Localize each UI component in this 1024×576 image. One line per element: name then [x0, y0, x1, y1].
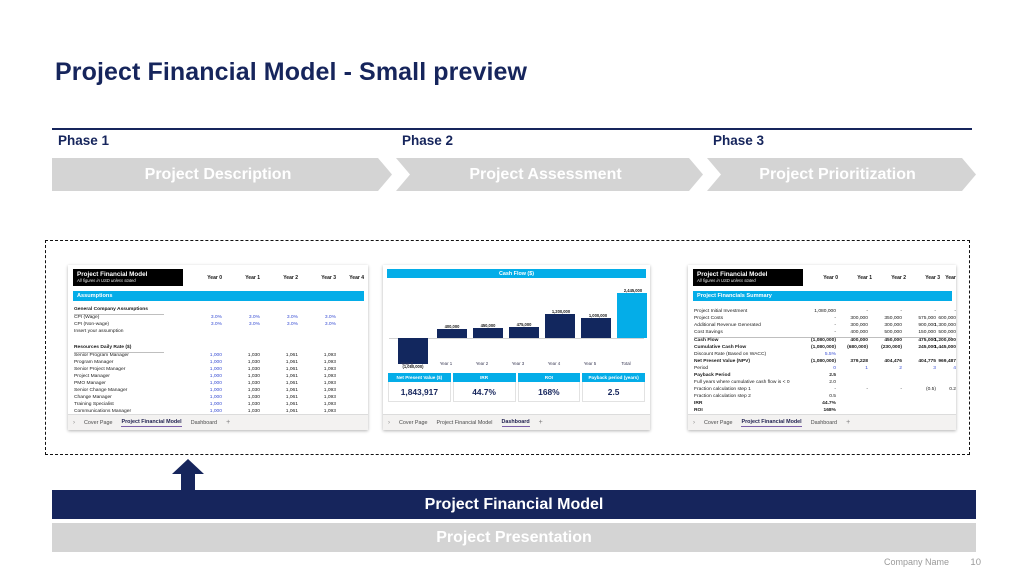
bar-5 [581, 318, 611, 338]
kpi-npv-value: 1,843,917 [388, 382, 451, 402]
cell-r2-y3: 1,061 [266, 367, 298, 373]
sheet-header-title: Project Financial Model [697, 271, 799, 278]
x-label-1: Year 1 [431, 361, 461, 366]
year-header-2: Year 2 [874, 275, 906, 281]
phase-chevron-label-3: Project Prioritization [759, 166, 915, 184]
bar-3 [509, 327, 539, 338]
row-label-r7: Training Specialist [74, 402, 114, 408]
cell-r1-y4: 1,093 [304, 360, 336, 366]
row-label-r6: Change Manager [74, 395, 112, 401]
cell-r4-y1: 1,000 [190, 381, 222, 387]
cell-fraction1-y2: - [870, 387, 902, 393]
cell-r5-y1: 1,000 [190, 388, 222, 394]
panel-dashboard[interactable]: Cash Flow ($) (1,080,000) 400,000 450,00… [383, 265, 650, 430]
row-label-cpi-nonwage: CPI (Non-wage) [74, 322, 109, 328]
sheet-tab-project-financial-model[interactable]: Project Financial Model [741, 419, 801, 427]
cell-r3-y1: 1,000 [190, 374, 222, 380]
sheet-header-subtitle: All figures in USD unless stated [697, 278, 799, 284]
kpi-irr-value: 44.7% [453, 382, 516, 402]
cell-cum-y2: (230,000) [868, 345, 902, 351]
cell-r3-y3: 1,061 [266, 374, 298, 380]
cell-cpi-wage-y2: 3.0% [228, 315, 260, 321]
cell-s3-y1: 400,000 [836, 330, 868, 336]
year-header-0: Year 0 [806, 275, 838, 281]
kpi-roi-value: 168% [518, 382, 581, 402]
sheet-header-title: Project Financial Model [77, 271, 179, 278]
row-label-r4: PMO Manager [74, 381, 106, 387]
phase-label-2: Phase 2 [396, 134, 703, 148]
cell-s0-y2: - [870, 309, 902, 315]
cell-r5-y2: 1,030 [228, 388, 260, 394]
cell-r0-y4: 1,093 [304, 353, 336, 359]
cell-r0-y3: 1,061 [266, 353, 298, 359]
sheet-tab-project-financial-model[interactable]: Project Financial Model [436, 420, 492, 426]
phase-column-2: Phase 2 Project Assessment [396, 134, 703, 194]
cell-s2-y2: 300,000 [870, 323, 902, 329]
bar-4 [545, 314, 575, 338]
row-label-fraction-1: Fraction calculation step 1 [694, 387, 751, 393]
row-label-discount-rate: Discount Rate (Based on WACC) [694, 352, 766, 358]
year-header-2: Year 2 [264, 275, 298, 281]
phase-label-3: Phase 3 [707, 134, 976, 148]
cell-r7-y4: 1,093 [304, 402, 336, 408]
bar-1 [437, 329, 467, 338]
cell-period-y2: 2 [870, 366, 902, 372]
cell-discount-rate: 5.5% [800, 352, 836, 358]
phase-band: Phase 1 Project Description Phase 2 Proj… [52, 134, 976, 194]
cell-cash-flow-y2: 450,000 [870, 338, 902, 344]
bar-project-financial-model[interactable]: Project Financial Model [52, 490, 976, 519]
section-bar-assumptions: Assumptions [73, 291, 364, 301]
slide-canvas: Project Financial Model - Small preview … [0, 0, 1024, 576]
cell-r3-y2: 1,030 [228, 374, 260, 380]
cell-cum-y4: 1,445,000 [922, 345, 956, 351]
cell-cash-flow-y0: (1,080,000) [796, 338, 836, 344]
cell-r7-y1: 1,000 [190, 402, 222, 408]
cell-fraction1-y1: - [836, 387, 868, 393]
panel-summary[interactable]: Project Financial Model All figures in U… [688, 265, 956, 430]
chart-title: Cash Flow ($) [387, 269, 646, 278]
row-label-cum-cash-flow: Cumulative Cash Flow [694, 345, 746, 351]
sheet-header-block: Project Financial Model All figures in U… [693, 269, 803, 286]
tabstrip-next-icon[interactable]: › [388, 420, 390, 426]
row-label-full-years: Full years where cumulative cash flow is… [694, 380, 790, 386]
x-label-5: Year 5 [575, 361, 605, 366]
row-label-r1: Program Manager [74, 360, 113, 366]
row-label-s0: Project Initial Investment [694, 309, 747, 315]
sheet-header-block: Project Financial Model All figures in U… [73, 269, 183, 286]
sheet-tab-project-financial-model[interactable]: Project Financial Model [121, 419, 181, 427]
sheet-header-subtitle: All figures in USD unless stated [77, 278, 179, 284]
cell-r0-y1: 1,000 [190, 353, 222, 359]
cash-flow-chart: (1,080,000) 400,000 450,000 475,000 1,20… [389, 280, 644, 358]
row-label-r3: Project Manager [74, 374, 110, 380]
cell-cpi-nonwage-y2: 3.0% [228, 322, 260, 328]
row-label-period: Period [694, 366, 708, 372]
year-header-1: Year 1 [840, 275, 872, 281]
footer-company-name: Company Name [884, 557, 949, 567]
group-title-general: General Company Assumptions [74, 307, 148, 313]
cell-period-y0: 0 [800, 366, 836, 372]
row-label-r2: Senior Project Manager [74, 367, 125, 373]
row-label-r5: Senior Change Manager [74, 388, 127, 394]
cell-r3-y4: 1,093 [304, 374, 336, 380]
bar-project-financial-model-label: Project Financial Model [425, 496, 604, 514]
kpi-row: Net Present Value ($) 1,843,917 IRR 44.7… [388, 373, 645, 402]
cell-s2-y1: 300,000 [836, 323, 868, 329]
x-label-3: Year 3 [503, 361, 533, 366]
sheet-tab-cover-page[interactable]: Cover Page [84, 420, 112, 426]
cell-r7-y2: 1,030 [228, 402, 260, 408]
cell-r4-y3: 1,061 [266, 381, 298, 387]
kpi-npv: Net Present Value ($) 1,843,917 [388, 373, 451, 402]
phase-chevron-3[interactable]: Project Prioritization [707, 158, 976, 191]
cell-period-y1: 1 [836, 366, 868, 372]
cell-r4-y2: 1,030 [228, 381, 260, 387]
cell-s1-y0: - [800, 316, 836, 322]
page-title: Project Financial Model - Small preview [55, 58, 527, 87]
cell-r7-y3: 1,061 [266, 402, 298, 408]
section-bar-summary: Project Financials Summary [693, 291, 952, 301]
kpi-roi: ROI 168% [518, 373, 581, 402]
cell-s3-y2: 500,000 [870, 330, 902, 336]
panel-assumptions[interactable]: Project Financial Model All figures in U… [68, 265, 368, 430]
add-sheet-icon[interactable]: + [226, 419, 230, 426]
kpi-irr: IRR 44.7% [453, 373, 516, 402]
bar-project-presentation[interactable]: Project Presentation [52, 523, 976, 552]
sheet-tab-cover-page[interactable]: Cover Page [704, 420, 732, 426]
cell-r2-y2: 1,030 [228, 367, 260, 373]
kpi-payback-value: 2.5 [582, 382, 645, 402]
kpi-npv-header: Net Present Value ($) [388, 373, 451, 382]
up-arrow-icon [170, 458, 206, 492]
kpi-payback-header: Payback period (years) [582, 373, 645, 382]
cell-r2-y4: 1,093 [304, 367, 336, 373]
sheet-tab-dashboard[interactable]: Dashboard [502, 419, 530, 427]
x-label-4: Year 4 [539, 361, 569, 366]
cell-s0-y4: - [924, 309, 956, 315]
cell-s1-y4: 600,000 [924, 316, 956, 322]
year-header-4: Year 4 [928, 275, 956, 281]
cell-s0-y0: 1,080,000 [800, 309, 836, 315]
sheet-tab-cover-page[interactable]: Cover Page [399, 420, 427, 426]
cell-r6-y2: 1,030 [228, 395, 260, 401]
cell-cpi-wage-y4: 3.0% [304, 315, 336, 321]
cell-s1-y1: 300,000 [836, 316, 868, 322]
phase-chevron-label-2: Project Assessment [469, 166, 621, 184]
cell-cum-y1: (680,000) [834, 345, 868, 351]
cell-s3-y0: - [800, 330, 836, 336]
cell-r5-y3: 1,061 [266, 388, 298, 394]
year-header-1: Year 1 [226, 275, 260, 281]
x-label-2: Year 2 [467, 361, 497, 366]
bar-project-presentation-label: Project Presentation [436, 529, 592, 547]
cell-r1-y3: 1,061 [266, 360, 298, 366]
kpi-irr-header: IRR [453, 373, 516, 382]
cell-fraction1-y0: - [800, 387, 836, 393]
kpi-roi-header: ROI [518, 373, 581, 382]
phase-column-3: Phase 3 Project Prioritization [707, 134, 976, 194]
add-sheet-icon[interactable]: + [846, 419, 850, 426]
phase-chevron-1[interactable]: Project Description [52, 158, 392, 191]
cell-s3-y4: 500,000 [924, 330, 956, 336]
cell-r1-y1: 1,000 [190, 360, 222, 366]
row-label-s2: Additional Revenue Generated [694, 323, 761, 329]
row-label-insert-assumption: Insert your assumption [74, 329, 123, 335]
cell-npv-y4: 969,487 [924, 359, 956, 365]
cell-r6-y1: 1,000 [190, 395, 222, 401]
cell-fraction2: 0.5 [800, 394, 836, 400]
cell-cum-y0: (1,080,000) [796, 345, 836, 351]
footer-page-number: 10 [970, 557, 981, 568]
row-label-irr: IRR [694, 401, 702, 407]
cell-period-y4: 4 [924, 366, 956, 372]
sheet-tabstrip-1[interactable]: › Cover Page Project Financial Model Das… [68, 414, 368, 430]
phase-column-1: Phase 1 Project Description [52, 134, 392, 194]
row-label-fraction-2: Fraction calculation step 2 [694, 394, 751, 400]
cell-cpi-nonwage-y1: 3.0% [190, 322, 222, 328]
cell-cpi-nonwage-y3: 3.0% [266, 322, 298, 328]
cell-npv-y1: 379,228 [836, 359, 868, 365]
x-label-6: Total [611, 361, 641, 366]
cell-r6-y4: 1,093 [304, 395, 336, 401]
bar-2 [473, 328, 503, 338]
cell-cpi-wage-y1: 3.0% [190, 315, 222, 321]
group-title-daily-rate: Resources Daily Rate ($) [74, 345, 131, 351]
cell-r0-y2: 1,030 [228, 353, 260, 359]
x-label-0: Year 0 [392, 361, 422, 366]
cell-npv-y0: (1,080,000) [796, 359, 836, 365]
row-label-cash-flow: Cash Flow [694, 338, 718, 344]
cell-full-years: 2.0 [800, 380, 836, 386]
cell-s1-y2: 350,000 [870, 316, 902, 322]
kpi-payback: Payback period (years) 2.5 [582, 373, 645, 402]
add-sheet-icon[interactable]: + [539, 419, 543, 426]
cell-r5-y4: 1,093 [304, 388, 336, 394]
row-label-payback: Payback Period [694, 373, 730, 379]
sheet-tabstrip-2[interactable]: › Cover Page Project Financial Model Das… [383, 414, 650, 430]
cell-payback: 2.5 [800, 373, 836, 379]
cell-npv-y2: 404,476 [870, 359, 902, 365]
title-divider [52, 128, 972, 130]
cell-cash-flow-y4: 1,200,000 [922, 338, 956, 344]
year-header-0: Year 0 [188, 275, 222, 281]
phase-chevron-2[interactable]: Project Assessment [396, 158, 703, 191]
phase-chevron-label-1: Project Description [145, 166, 292, 184]
sheet-tab-dashboard[interactable]: Dashboard [811, 420, 837, 426]
row-label-s3: Cost Savings [694, 330, 723, 336]
sheet-tabstrip-3[interactable]: › Cover Page Project Financial Model Das… [688, 414, 956, 430]
tabstrip-next-icon[interactable]: › [73, 420, 75, 426]
cell-cash-flow-y1: 400,000 [836, 338, 868, 344]
row-label-r0: Senior Program Manager [74, 353, 129, 359]
cell-r2-y1: 1,000 [190, 367, 222, 373]
row-label-s1: Project Costs [694, 316, 723, 322]
cell-r1-y2: 1,030 [228, 360, 260, 366]
cell-r6-y3: 1,061 [266, 395, 298, 401]
cell-cpi-wage-y3: 3.0% [266, 315, 298, 321]
cell-s2-y4: 1,300,000 [920, 323, 956, 329]
cell-r4-y4: 1,093 [304, 381, 336, 387]
row-label-npv: Net Present Value (NPV) [694, 359, 750, 365]
cell-fraction1-y4: 0.2 [924, 387, 956, 393]
phase-label-1: Phase 1 [52, 134, 392, 148]
row-label-cpi-wage: CPI (Wage) [74, 315, 99, 321]
sheet-tab-dashboard[interactable]: Dashboard [191, 420, 217, 426]
cell-s0-y1: - [836, 309, 868, 315]
cell-s2-y0: - [800, 323, 836, 329]
bar-6-total [617, 293, 647, 338]
cell-cpi-nonwage-y4: 3.0% [304, 322, 336, 328]
tabstrip-next-icon[interactable]: › [693, 420, 695, 426]
year-header-4: Year 4 [330, 275, 364, 281]
cell-irr: 44.7% [800, 401, 836, 407]
